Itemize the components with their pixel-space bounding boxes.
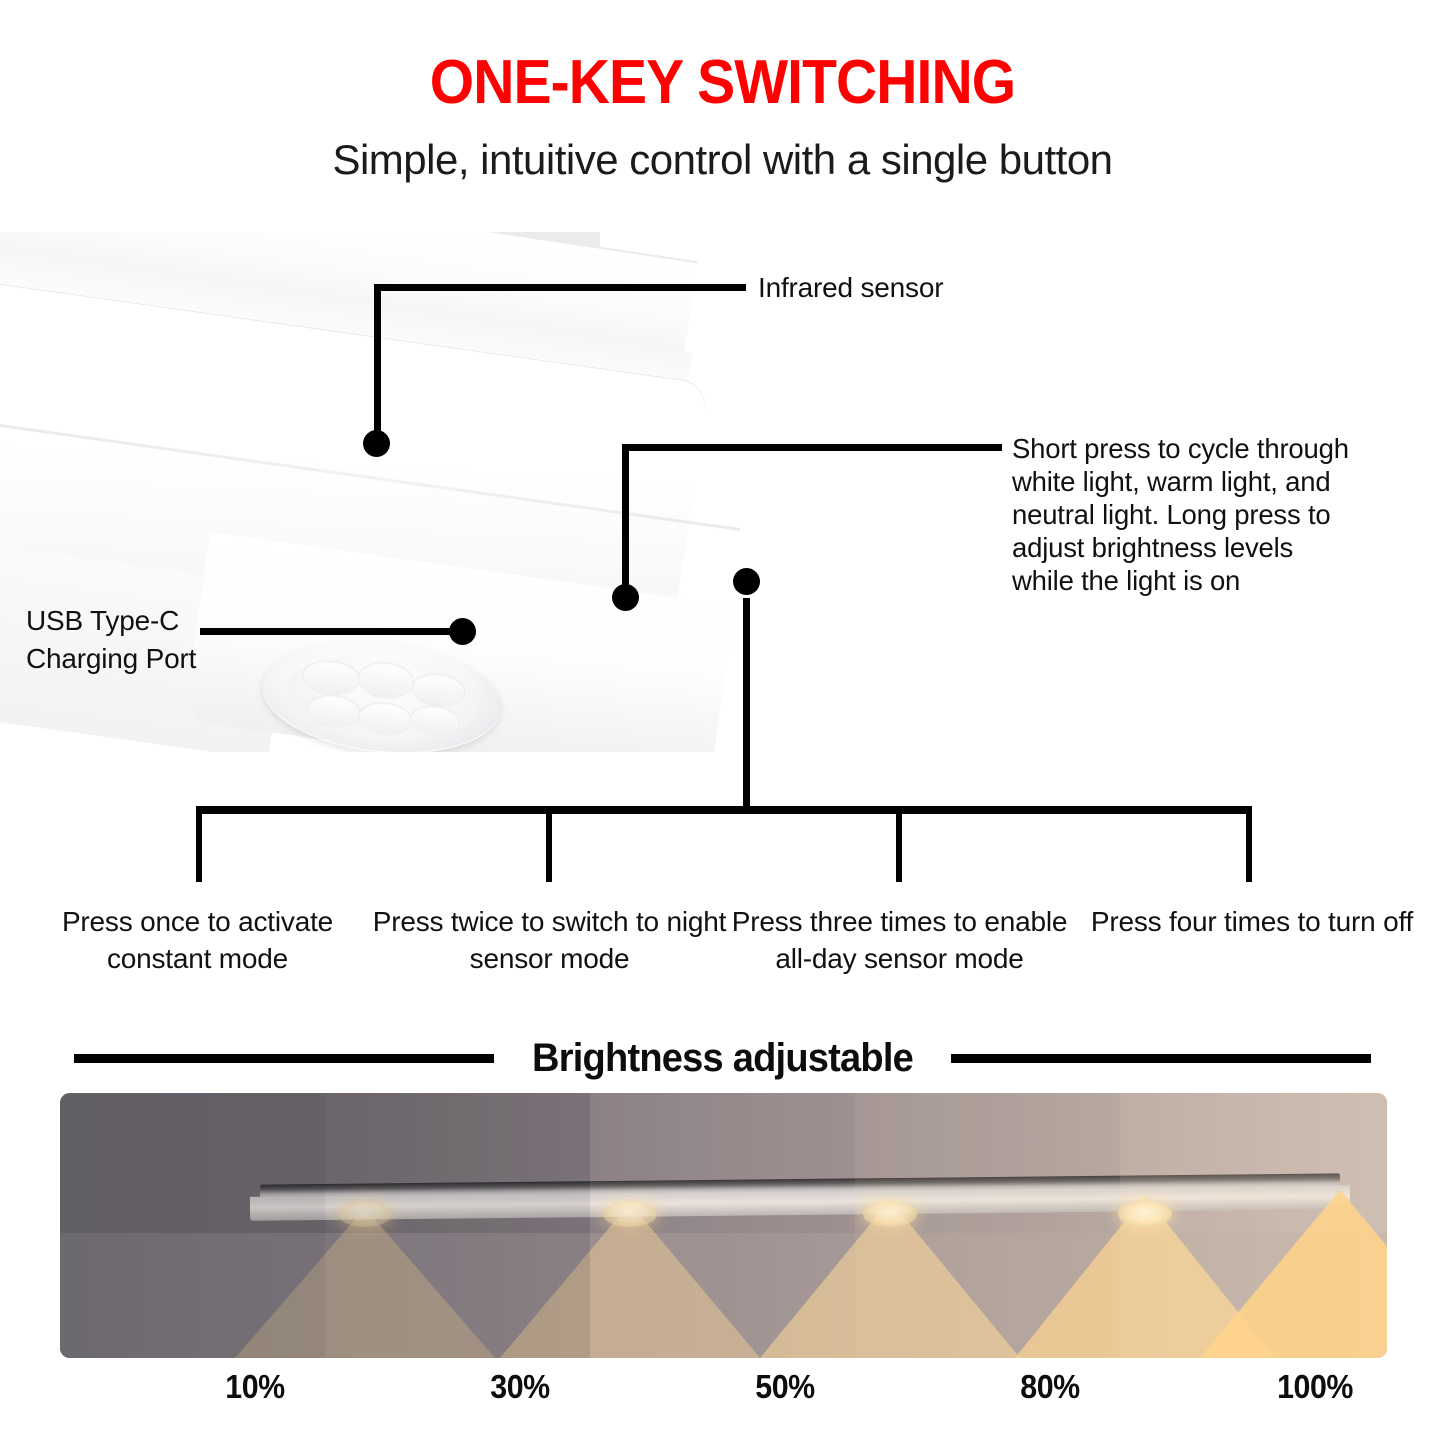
fresnel-facet <box>300 658 361 698</box>
press-modes-anchor-dot <box>733 568 760 595</box>
led-lamp-3 <box>863 1201 917 1227</box>
fresnel-facet <box>356 700 413 737</box>
press-modes-tick-4 <box>1246 810 1252 882</box>
press-mode-4: Press four times to turn off <box>1072 903 1432 940</box>
brightness-level-30: 30% <box>442 1368 598 1406</box>
brightness-level-100: 100% <box>1237 1368 1393 1406</box>
press-modes-stem <box>743 598 750 810</box>
led-lamp-2 <box>603 1201 657 1227</box>
infrared-leader-dot <box>363 430 390 457</box>
led-lamp-1 <box>338 1201 392 1227</box>
brightness-level-80: 80% <box>972 1368 1128 1406</box>
brightness-title: Brightness adjustable <box>532 1036 913 1081</box>
press-modes-tick-3 <box>896 810 902 882</box>
header-rule-left <box>74 1054 494 1063</box>
infrared-leader-vertical <box>374 284 381 442</box>
brightness-section-header: Brightness adjustable <box>0 1030 1445 1086</box>
brightness-levels-row: 10% 30% 50% 80% 100% <box>60 1368 1387 1420</box>
header-rule-right <box>951 1054 1371 1063</box>
usb-port-label: USB Type-C Charging Port <box>26 602 196 678</box>
press-modes-bracket <box>196 806 1252 814</box>
page-subtitle: Simple, intuitive control with a single … <box>0 132 1445 188</box>
press-modes-tick-2 <box>546 810 552 882</box>
button-leader-horizontal <box>622 444 1002 451</box>
infographic-page: ONE-KEY SWITCHING Simple, intuitive cont… <box>0 0 1445 1445</box>
light-cone-5 <box>1200 1190 1387 1358</box>
button-leader-vertical <box>622 444 629 596</box>
brightness-level-10: 10% <box>177 1368 333 1406</box>
brightness-demo-image <box>60 1093 1387 1358</box>
usb-leader-horizontal <box>200 628 462 635</box>
press-mode-2: Press twice to switch to night sensor mo… <box>372 903 727 977</box>
infrared-leader-horizontal <box>374 284 746 291</box>
page-title: ONE-KEY SWITCHING <box>58 48 1387 118</box>
button-function-label: Short press to cycle through white light… <box>1012 432 1362 597</box>
led-lamp-4 <box>1118 1201 1172 1227</box>
press-modes-tick-1 <box>196 810 202 882</box>
fresnel-facet <box>356 660 415 702</box>
infrared-sensor-label: Infrared sensor <box>758 270 943 306</box>
usb-leader-dot <box>449 618 476 645</box>
button-leader-dot <box>612 584 639 611</box>
press-mode-1: Press once to activate constant mode <box>20 903 375 977</box>
press-mode-3: Press three times to enable all-day sens… <box>722 903 1077 977</box>
light-cone-1 <box>235 1208 495 1358</box>
brightness-level-50: 50% <box>707 1368 863 1406</box>
